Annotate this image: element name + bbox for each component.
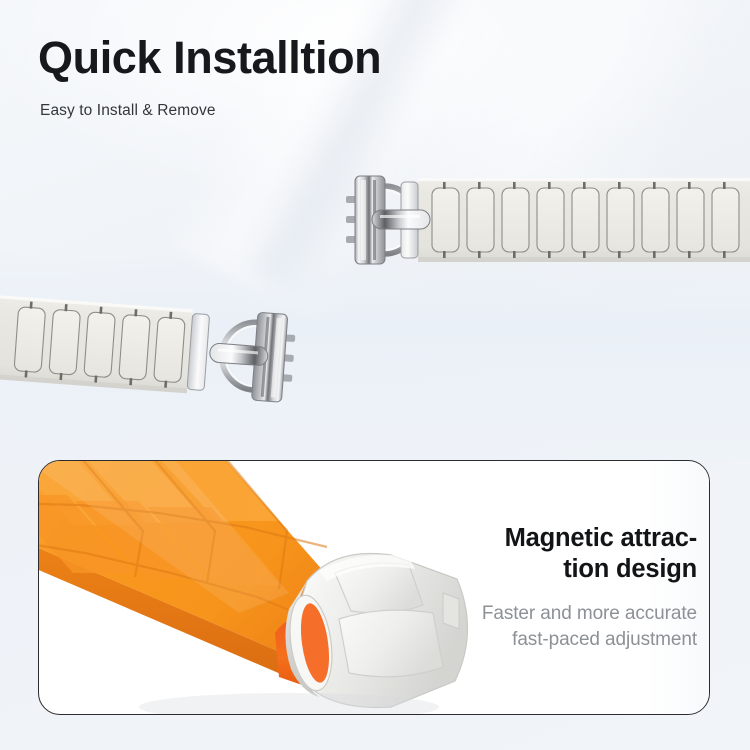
band-segments-bottom (14, 307, 185, 383)
band-strap-top (418, 178, 750, 262)
band-segment-notches-bottom (25, 302, 173, 388)
band-connector-top (346, 176, 430, 264)
band-strap-bottom (0, 294, 193, 393)
page-subtitle: Easy to Install & Remove (40, 102, 216, 120)
feature-title: Magnetic attrac- tion design (505, 523, 697, 585)
feature-text-block: Magnetic attrac- tion design Faster and … (429, 461, 710, 714)
background-light-streak-3 (385, 0, 750, 292)
feature-photo (39, 461, 469, 714)
connector-prongs-top (346, 196, 356, 243)
watch-band-bottom (0, 288, 304, 418)
band-segments-top (432, 188, 739, 252)
product-marketing-image: Quick Installtion Easy to Install & Remo… (0, 0, 750, 750)
orange-band-clasp-illustration (39, 461, 469, 714)
background-band-band (0, 250, 750, 460)
connector-prongs-bottom (282, 334, 295, 382)
band-segment-notches-top (443, 182, 726, 258)
watch-band-top (344, 160, 750, 280)
feature-subtitle: Faster and more accurate fast-paced adju… (482, 601, 697, 653)
band-connector-bottom (187, 307, 297, 402)
page-title: Quick Installtion (38, 34, 381, 83)
feature-panel: Magnetic attrac- tion design Faster and … (38, 460, 710, 715)
